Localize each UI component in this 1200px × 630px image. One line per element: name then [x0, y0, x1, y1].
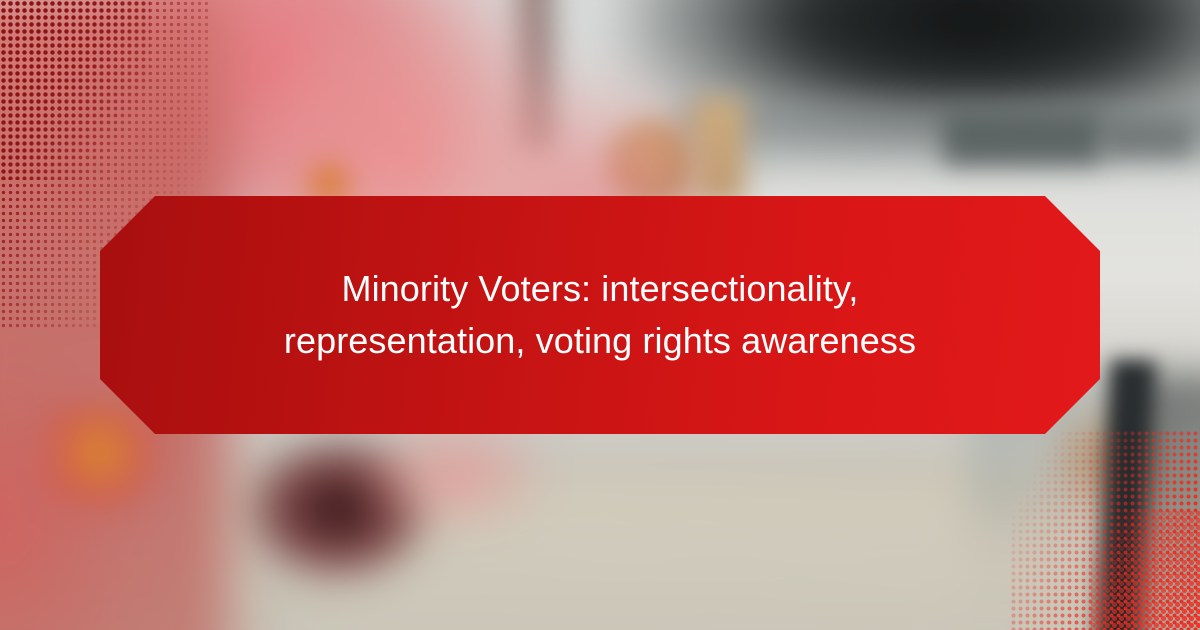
page-title: Minority Voters: intersectionality, repr… — [220, 263, 980, 367]
headline-banner: Minority Voters: intersectionality, repr… — [100, 196, 1100, 434]
banner-stage: Minority Voters: intersectionality, repr… — [0, 0, 1200, 630]
